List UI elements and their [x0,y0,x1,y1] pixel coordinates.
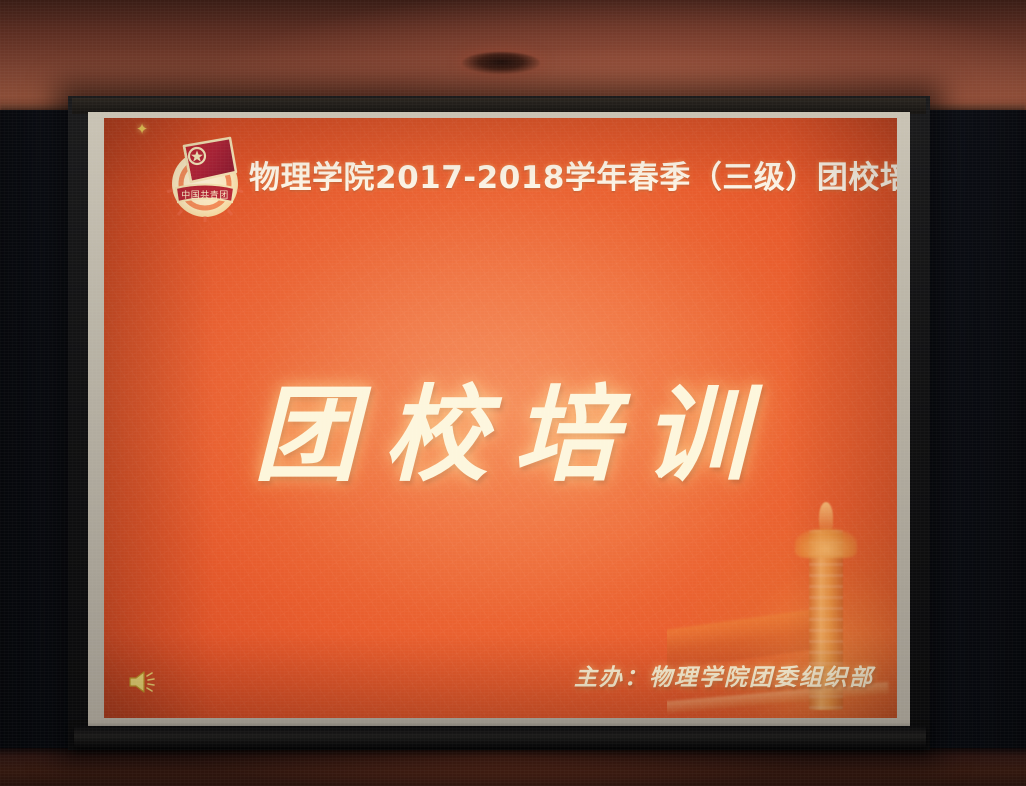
projector-room-photo: 中国共青团 ✦ 物理学院2017-2018学年春季（三级）团校培训 团校培训 主… [0,0,1026,786]
screen-bottom-weight-bar [74,726,926,748]
slide-title: 物理学院2017-2018学年春季（三级）团校培训 [249,152,869,197]
emblem-banner-text: 中国共青团 [181,189,229,201]
spark-star-icon: ✦ [135,122,149,136]
motif-finial [819,502,833,532]
communist-youth-league-emblem: 中国共青团 [162,132,248,224]
sound-speaker-icon[interactable] [126,668,160,696]
slide-main-heading: 团校培训 [104,350,897,501]
floor-strip [0,748,1026,786]
projected-slide: 中国共青团 ✦ 物理学院2017-2018学年春季（三级）团校培训 团校培训 主… [104,118,897,718]
motif-pillar-cap [795,528,857,558]
ceiling-light-icon [462,52,540,74]
slide-footer-organizer: 主办：物理学院团委组织部 [574,658,874,692]
